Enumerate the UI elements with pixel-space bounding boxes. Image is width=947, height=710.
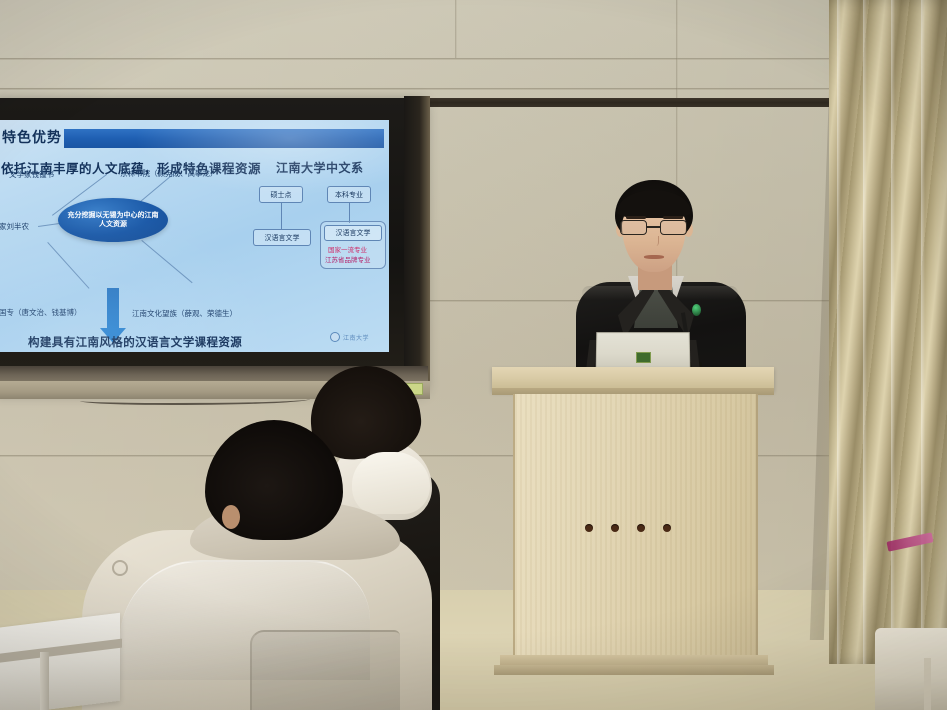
node-label-2: 东林书院（顾宪成、高攀龙） (120, 168, 218, 179)
logo-mark-icon (330, 332, 340, 342)
microphone-icon[interactable] (692, 304, 701, 316)
audience-back-hood-fold (352, 452, 430, 514)
org-box-master-major: 汉语言文学 (253, 229, 311, 246)
wall-seam-top (0, 58, 947, 60)
logo-text: 江南大学 (343, 333, 369, 342)
presenter-nose (652, 236, 659, 246)
lecture-hall-scene: 特色优势 依托江南丰厚的人文底蕴，形成特色课程资源 江南大学中文系 文学家钱锺书… (0, 0, 947, 710)
laptop-sticker (636, 352, 651, 363)
glasses-bridge (647, 226, 660, 228)
org-tag-province: 江苏省品牌专业 (325, 254, 371, 264)
front-desk-leg (40, 652, 49, 710)
curtain-fold (921, 0, 925, 664)
chair[interactable] (875, 628, 947, 710)
presenter-mouth (644, 255, 664, 259)
node-label-1: 文学家钱锺书 (9, 169, 54, 180)
glasses-icon (618, 220, 690, 236)
spoke-line-4 (47, 242, 89, 289)
slide-bottom-text: 构建具有江南风格的汉语言文学课程资源 (28, 334, 242, 350)
podium-hole (663, 524, 671, 532)
wall-vertical-seam-2 (455, 0, 457, 58)
org-tag-national: 国家一流专业 (328, 244, 367, 254)
display-screen: 特色优势 依托江南丰厚的人文底蕴，形成特色课程资源 江南大学中文系 文学家钱锺书… (0, 120, 389, 352)
podium-base-plinth (494, 665, 774, 675)
presentation-slide: 特色优势 依托江南丰厚的人文底蕴，形成特色课程资源 江南大学中文系 文学家钱锺书… (0, 120, 389, 352)
slide-title-bar (64, 129, 384, 148)
presenter-eyebrow-right (663, 216, 683, 219)
node-label-5: 江南文化望族（薛观、荣德生） (132, 308, 237, 319)
glasses-lens-left (620, 220, 647, 235)
curtain-fold (891, 0, 895, 664)
display-panel[interactable]: 特色优势 依托江南丰厚的人文底蕴，形成特色课程资源 江南大学中文系 文学家钱锺书… (0, 98, 424, 388)
org-box-master: 硕士点 (259, 186, 303, 203)
org-line-left (281, 203, 282, 229)
podium-vent-holes (585, 524, 671, 532)
display-right-bezel (404, 96, 430, 392)
curtain-fold (837, 0, 841, 664)
slide-title: 特色优势 (2, 127, 62, 147)
chair-leg (924, 658, 931, 710)
curtain-fold (863, 0, 867, 664)
audience-front-ear (222, 505, 240, 529)
org-line-right (349, 203, 350, 223)
center-node: 充分挖掘以无锡为中心的江南人文资源 (58, 198, 168, 242)
spoke-line-5 (141, 240, 192, 283)
curtain (829, 0, 947, 664)
org-box-undergrad: 本科专业 (327, 186, 371, 203)
slide-right-title: 江南大学中文系 (276, 159, 364, 176)
node-label-4: 无锡国专（唐文治、钱基博） (0, 307, 82, 318)
org-box-undergrad-major: 汉语言文学 (324, 225, 382, 241)
wall-seam-upper (0, 88, 947, 90)
wall-seam-lower (0, 455, 947, 457)
podium-hole (637, 524, 645, 532)
university-logo: 江南大学 (330, 332, 369, 342)
presenter-eyebrow-left (626, 216, 646, 219)
audience-front-drawstring (112, 560, 128, 576)
podium-hole (585, 524, 593, 532)
audience-front-pocket (250, 630, 400, 710)
podium-hole (611, 524, 619, 532)
down-arrow-icon (107, 288, 119, 328)
glasses-lens-right (660, 220, 687, 235)
front-desk[interactable] (0, 613, 120, 710)
node-label-3: 文学家刘半农 (0, 221, 29, 232)
